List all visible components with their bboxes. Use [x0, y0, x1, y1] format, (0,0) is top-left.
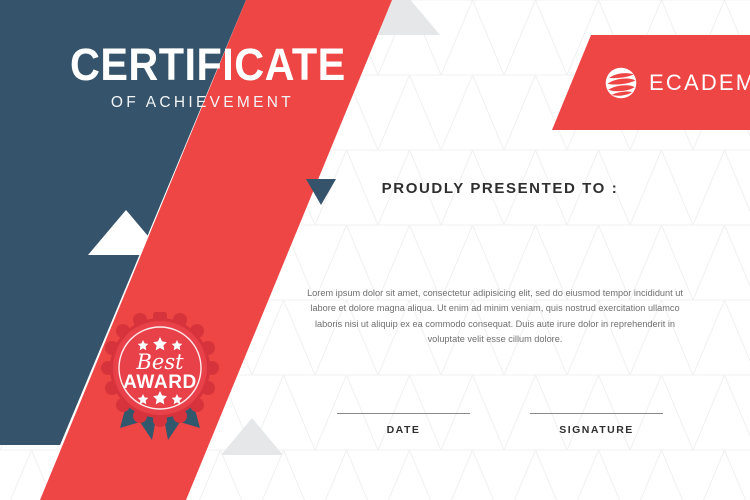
signature-line [530, 413, 663, 414]
page-subtitle: OF ACHIEVEMENT [70, 94, 295, 112]
brand-logo: ECADEMY [604, 66, 750, 100]
badge-script-text: Best [135, 350, 184, 374]
signature-line [337, 413, 470, 414]
title-block: CERTIFICATE OF ACHIEVEMENT [70, 42, 295, 112]
signature-label-date: DATE [337, 424, 470, 436]
globe-swoosh-icon [604, 66, 638, 100]
page-title: CERTIFICATE [70, 42, 277, 88]
signature-block-date: DATE [337, 413, 470, 436]
brand-name: ECADEMY [649, 70, 750, 96]
certificate-canvas: CERTIFICATE OF ACHIEVEMENT ECADEMY PROUD… [0, 0, 750, 500]
signature-label-signature: SIGNATURE [530, 424, 663, 436]
presented-to-heading: PROUDLY PRESENTED TO : [330, 180, 670, 197]
award-badge: Best AWARD [98, 312, 222, 440]
badge-main-text: AWARD [123, 372, 197, 393]
signature-block-signature: SIGNATURE [530, 413, 663, 436]
body-paragraph: Lorem ipsum dolor sit amet, consectetur … [297, 286, 693, 348]
